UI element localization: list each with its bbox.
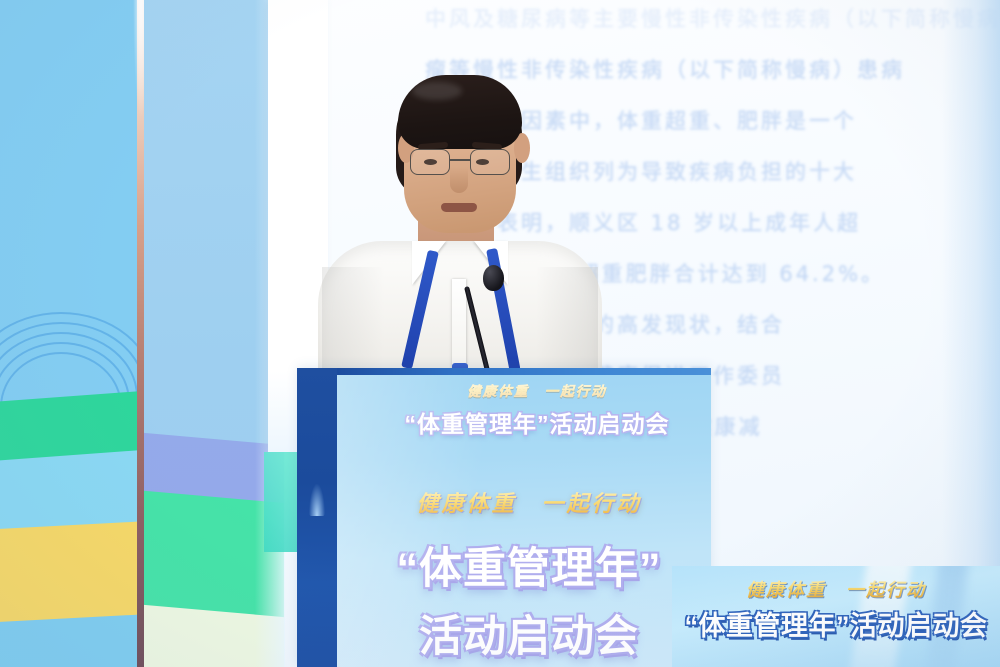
podium: 健康体重 一起行动 “体重管理年”活动启动会 健康体重 一起行动 “体重管理年”…	[297, 368, 711, 667]
microphone-head	[483, 265, 504, 291]
podium-light-motif-icon	[309, 484, 325, 516]
banner-title: “体重管理年”活动启动会	[672, 604, 1000, 643]
banner-slogan: 健康体重 一起行动	[672, 576, 1000, 602]
color-band-yellow	[0, 521, 137, 630]
speaker-figure	[300, 55, 620, 385]
podium-main-title-line1: “体重管理年”	[349, 534, 709, 596]
mouth	[441, 203, 477, 212]
podium-top-edge	[337, 368, 711, 375]
slide-line-1: 中风及糖尿病等主要慢性非传染性疾病（以下简称慢病）是	[425, 0, 1000, 45]
podium-header-slogan: 健康体重 一起行动	[377, 380, 697, 400]
podium-main-slogan: 健康体重 一起行动	[349, 486, 709, 518]
glasses-bridge	[450, 159, 470, 161]
color-band-bottom-blue	[0, 614, 137, 667]
nose	[450, 167, 468, 193]
lens-left	[410, 149, 450, 175]
hair	[398, 75, 522, 149]
podium-side-panel	[297, 368, 337, 667]
podium-header-sign: 健康体重 一起行动 “体重管理年”活动启动会	[377, 380, 697, 439]
podium-main-sign: 健康体重 一起行动 “体重管理年” 活动启动会	[349, 486, 709, 664]
corner-banner: 健康体重 一起行动 “体重管理年”活动启动会	[672, 566, 1000, 667]
podium-main-title-line2: 活动启动会	[349, 602, 709, 664]
podium-header-title: “体重管理年”活动启动会	[377, 405, 697, 439]
lens-right	[470, 149, 510, 175]
photo-scene: 中风及糖尿病等主要慢性非传染性疾病（以下简称慢病）是 瘤等慢性非传染性疾病（以下…	[0, 0, 1000, 667]
decor-panel-left	[0, 0, 137, 667]
